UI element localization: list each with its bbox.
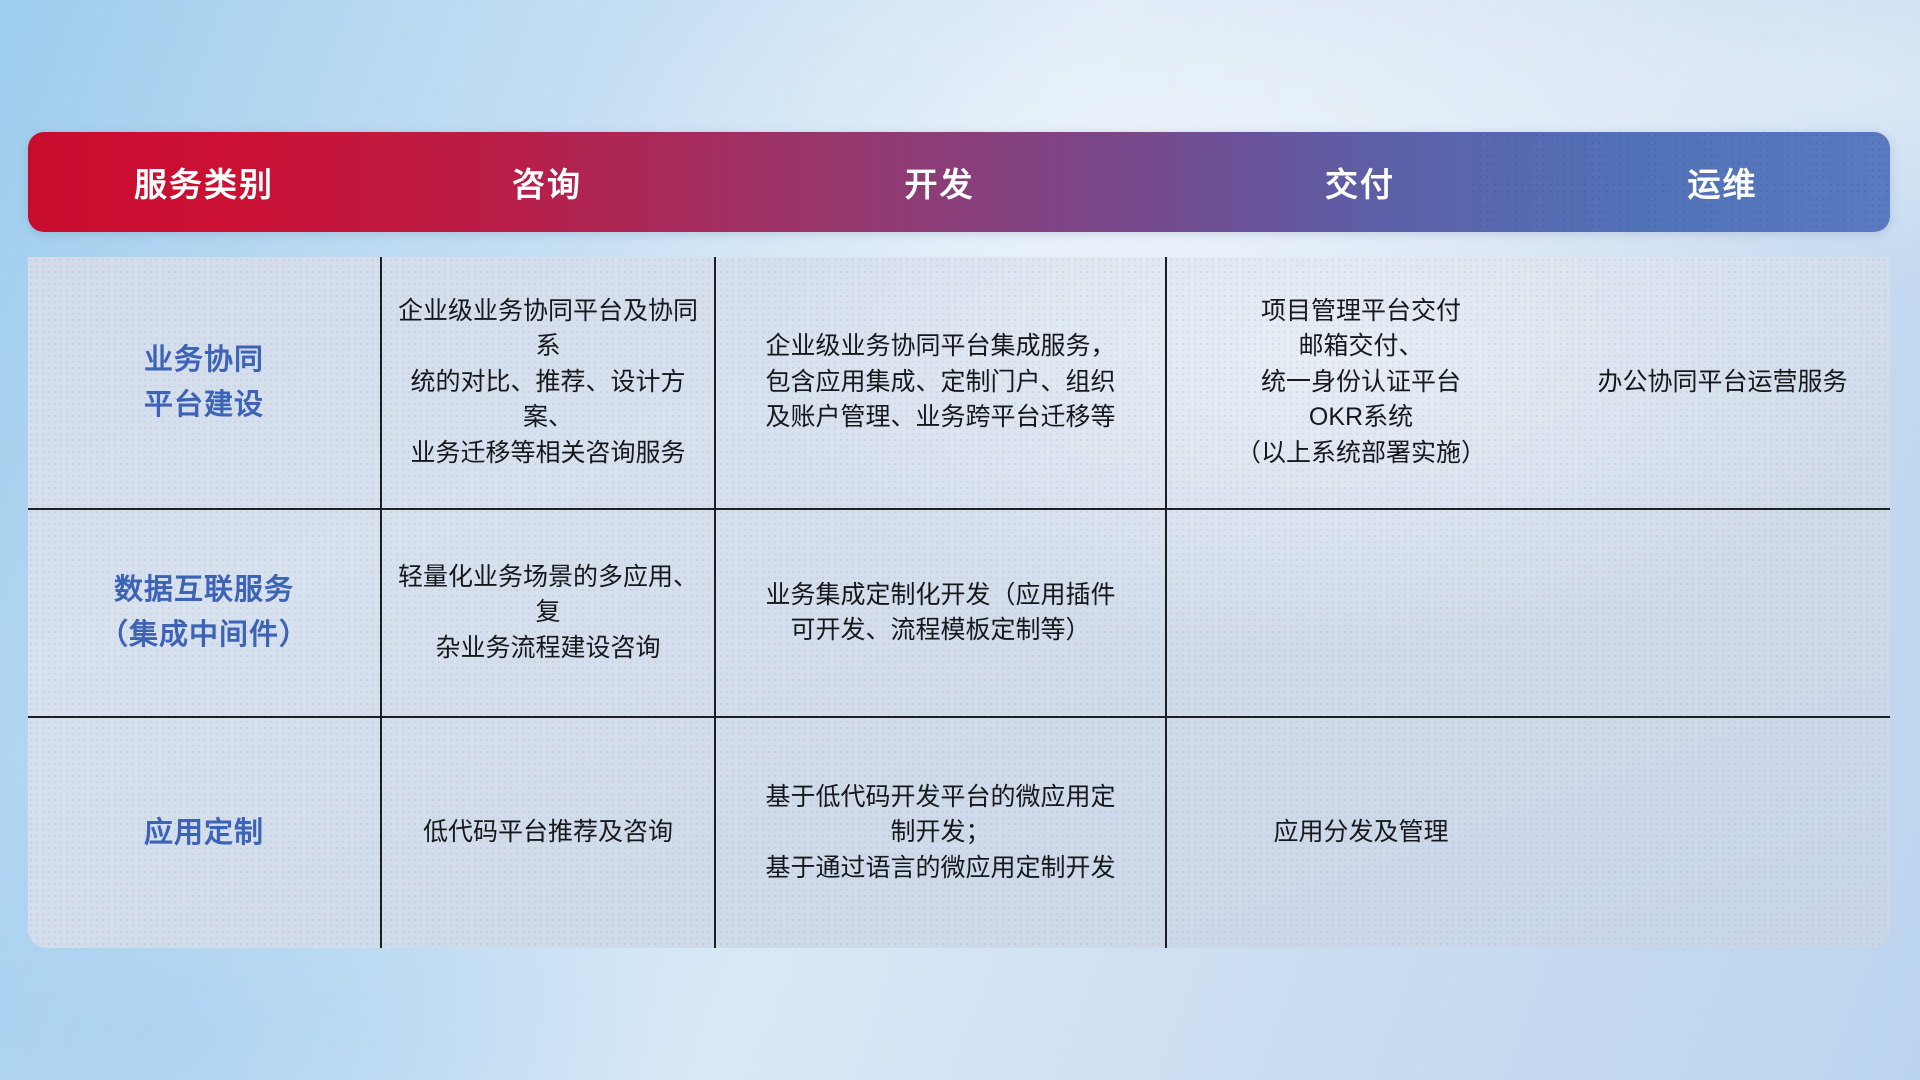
column-header-development: 开发 [714, 158, 1165, 206]
table-row: 业务协同 平台建设 企业级业务协同平台及协同系 统的对比、推荐、设计方案、 业务… [28, 257, 1890, 510]
table-row: 数据互联服务 （集成中间件） 轻量化业务场景的多应用、复 杂业务流程建设咨询 业… [28, 510, 1890, 718]
column-header-delivery: 交付 [1165, 158, 1555, 206]
column-header-consulting: 咨询 [380, 158, 714, 206]
cell-delivery: 项目管理平台交付 邮箱交付、 统一身份认证平台 OKR系统 （以上系统部署实施） [1165, 257, 1555, 508]
row-label-cell: 数据互联服务 （集成中间件） [28, 510, 380, 716]
row-label-cell: 应用定制 [28, 718, 380, 948]
cell-development: 业务集成定制化开发（应用插件 可开发、流程模板定制等） [714, 510, 1165, 716]
service-category-table: 服务类别 咨询 开发 交付 运维 业务协同 平台建设 企业级业务协同平台及协同系… [28, 106, 1890, 948]
column-header-service-category: 服务类别 [28, 158, 380, 206]
cell-operations [1555, 718, 1890, 948]
cell-consulting: 低代码平台推荐及咨询 [380, 718, 714, 948]
column-header-operations: 运维 [1555, 158, 1890, 206]
cell-delivery: 应用分发及管理 [1165, 718, 1555, 948]
table-row: 应用定制 低代码平台推荐及咨询 基于低代码开发平台的微应用定 制开发； 基于通过… [28, 718, 1890, 948]
table-header-bar: 服务类别 咨询 开发 交付 运维 [28, 132, 1890, 232]
cell-development: 企业级业务协同平台集成服务， 包含应用集成、定制门户、组织 及账户管理、业务跨平… [714, 257, 1165, 508]
cell-consulting: 轻量化业务场景的多应用、复 杂业务流程建设咨询 [380, 510, 714, 716]
cell-delivery [1165, 510, 1555, 716]
row-label-cell: 业务协同 平台建设 [28, 257, 380, 508]
cell-consulting: 企业级业务协同平台及协同系 统的对比、推荐、设计方案、 业务迁移等相关咨询服务 [380, 257, 714, 508]
table-body: 业务协同 平台建设 企业级业务协同平台及协同系 统的对比、推荐、设计方案、 业务… [28, 257, 1890, 948]
cell-operations: 办公协同平台运营服务 [1555, 257, 1890, 508]
cell-operations [1555, 510, 1890, 716]
cell-development: 基于低代码开发平台的微应用定 制开发； 基于通过语言的微应用定制开发 [714, 718, 1165, 948]
